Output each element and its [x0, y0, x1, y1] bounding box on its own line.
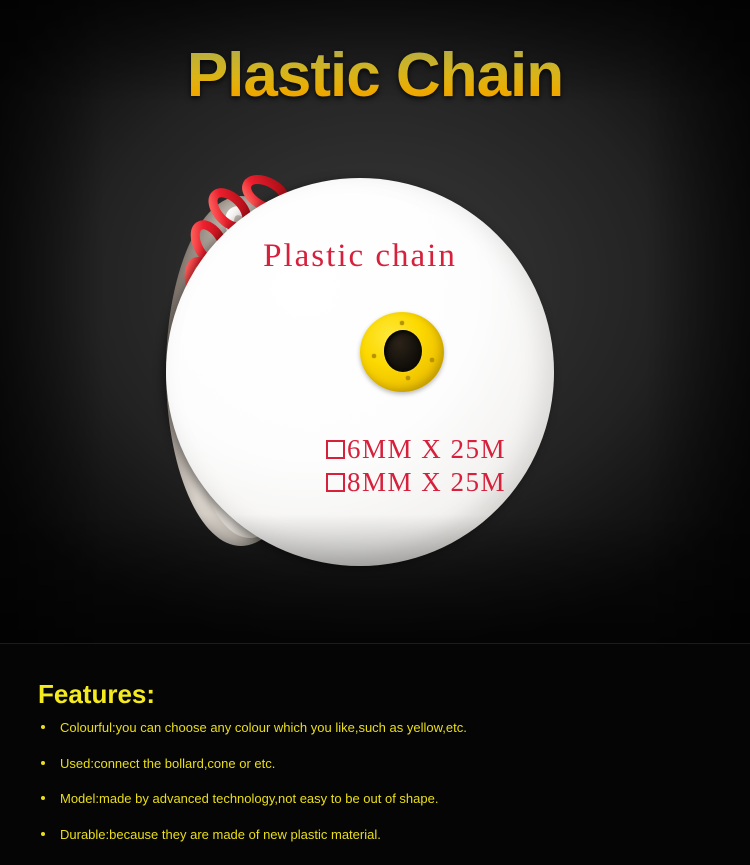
bullet-icon	[41, 796, 45, 800]
product-detail-page: Plastic Chain	[0, 0, 750, 865]
spec-row-6mm[interactable]: 6MM X 25M	[326, 436, 506, 463]
spool-front-flange: Plastic chain 6MM X 25M 8MM X 25M	[166, 178, 554, 566]
features-section: Features: Colourful:you can choose any c…	[0, 643, 750, 865]
bullet-icon	[41, 832, 45, 836]
list-item: Durable:because they are made of new pla…	[38, 827, 718, 843]
spool-center-hole	[384, 330, 422, 372]
page-title: Plastic Chain	[0, 43, 750, 108]
chain-spool-image: Plastic chain 6MM X 25M 8MM X 25M	[158, 172, 558, 572]
list-item: Used:connect the bollard,cone or etc.	[38, 756, 718, 772]
list-item: Colourful:you can choose any colour whic…	[38, 720, 718, 736]
spec-label-8mm: 8MM X 25M	[347, 469, 506, 496]
spool-label-title: Plastic chain	[166, 238, 554, 275]
features-list: Colourful:you can choose any colour whic…	[38, 720, 718, 862]
feature-text: Model:made by advanced technology,not ea…	[60, 791, 438, 806]
list-item: Model:made by advanced technology,not ea…	[38, 791, 718, 807]
hub-screw	[430, 358, 434, 362]
spool-label: Plastic chain 6MM X 25M 8MM X 25M	[166, 178, 554, 566]
feature-text: Durable:because they are made of new pla…	[60, 827, 381, 842]
hub-screw	[406, 376, 410, 380]
bullet-icon	[41, 761, 45, 765]
spec-list: 6MM X 25M 8MM X 25M	[326, 436, 506, 502]
bullet-icon	[41, 725, 45, 729]
feature-text: Colourful:you can choose any colour whic…	[60, 720, 467, 735]
features-heading: Features:	[38, 679, 155, 710]
feature-text: Used:connect the bollard,cone or etc.	[60, 756, 275, 771]
checkbox-8mm[interactable]	[326, 473, 345, 492]
hub-screw	[372, 354, 376, 358]
spool-hub	[360, 312, 444, 392]
spec-row-8mm[interactable]: 8MM X 25M	[326, 469, 506, 496]
hero-section: Plastic Chain	[0, 0, 750, 643]
checkbox-6mm[interactable]	[326, 440, 345, 459]
spec-label-6mm: 6MM X 25M	[347, 436, 506, 463]
hub-screw	[400, 321, 404, 325]
